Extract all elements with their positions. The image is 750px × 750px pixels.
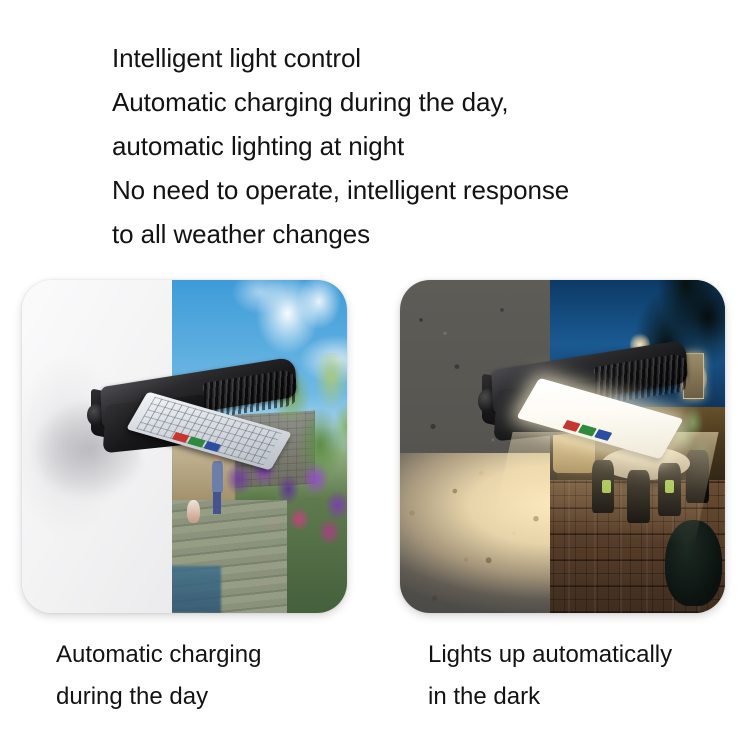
dark-planter [665, 520, 721, 607]
caption-day-line-1: Automatic charging [56, 634, 261, 676]
caption-night: Lights up automatically in the dark [428, 634, 672, 718]
caption-night-line-2: in the dark [428, 676, 672, 718]
headline-line-1: Intelligent light control [112, 36, 712, 80]
headline-line-2: Automatic charging during the day, [112, 80, 712, 124]
headline-line-3: automatic lighting at night [112, 124, 712, 168]
headline-line-4: No need to operate, intelligent response [112, 168, 712, 212]
night-scene [400, 280, 725, 613]
chair-cushion-1 [602, 480, 611, 493]
caption-day: Automatic charging during the day [56, 634, 261, 718]
panel-night-photo [400, 280, 725, 613]
headline-block: Intelligent light control Automatic char… [112, 36, 712, 256]
caption-day-line-2: during the day [56, 676, 261, 718]
panel-day-photo [22, 280, 347, 613]
patio-chair-2 [627, 470, 650, 523]
person-legs [213, 492, 220, 515]
garden-pond [172, 566, 221, 613]
chair-cushion-2 [665, 480, 674, 493]
product-feature-page: Intelligent light control Automatic char… [0, 0, 750, 750]
solar-light-fixture-night [478, 353, 693, 460]
day-scene [22, 280, 347, 613]
solar-light-fixture-day [87, 370, 302, 470]
headline-line-5: to all weather changes [112, 212, 712, 256]
caption-night-line-1: Lights up automatically [428, 634, 672, 676]
dog-figure [187, 500, 199, 523]
